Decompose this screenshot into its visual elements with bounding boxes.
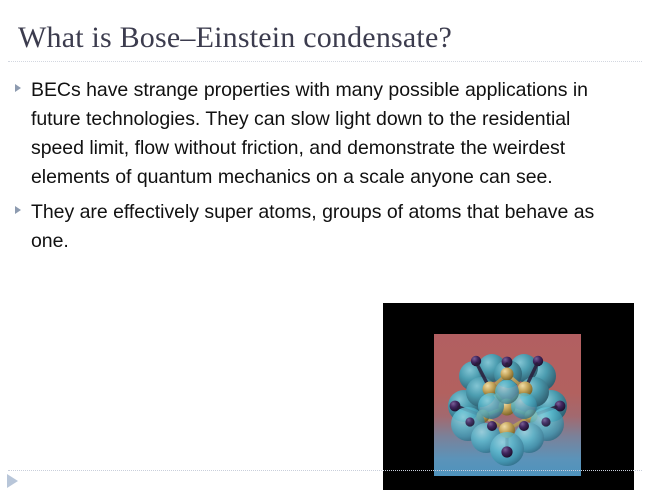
list-item: They are effectively super atoms, groups… — [13, 198, 625, 256]
triangle-right-icon — [15, 84, 21, 92]
triangle-right-icon — [15, 206, 21, 214]
molecular-cluster-illustration — [434, 334, 581, 476]
footer-divider — [8, 470, 642, 472]
picture-canvas — [434, 334, 581, 476]
presentation-slide: What is Bose–Einstein condensate? BECs h… — [0, 0, 646, 490]
title-divider — [8, 61, 642, 63]
bullet-text: They are effectively super atoms, groups… — [31, 201, 594, 252]
list-item: BECs have strange properties with many p… — [13, 76, 625, 192]
slide-title: What is Bose–Einstein condensate? — [18, 20, 628, 56]
bullet-text: BECs have strange properties with many p… — [31, 79, 588, 188]
picture-alt-text: Molecular cluster illustration: gold met… — [383, 303, 384, 304]
slide-body-list: BECs have strange properties with many p… — [13, 76, 625, 262]
play-triangle-icon[interactable] — [7, 474, 18, 488]
slide-picture: Molecular cluster illustration: gold met… — [383, 303, 634, 490]
